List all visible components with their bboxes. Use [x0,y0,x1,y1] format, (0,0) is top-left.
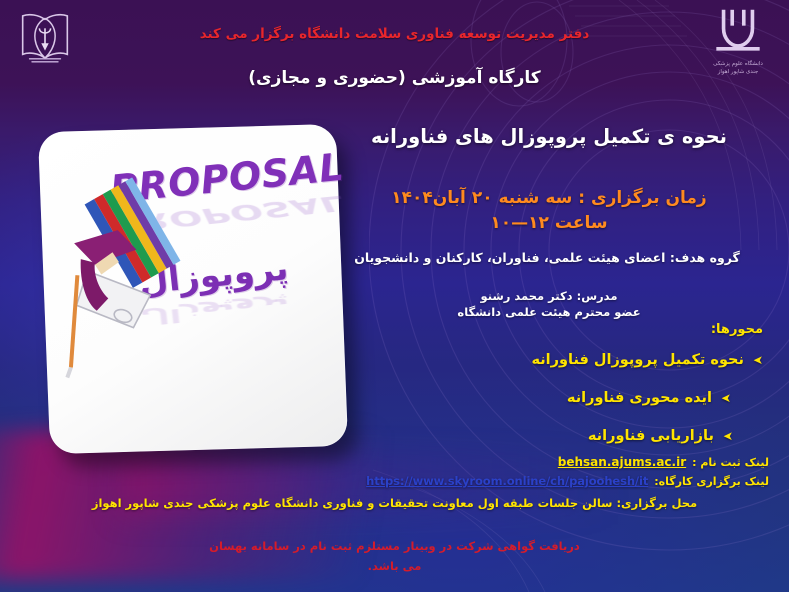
venue-line: محل برگزاری: سالن جلسات طبقه اول معاونت … [20,496,769,510]
schedule-block: زمان برگزاری : سه شنبه ۲۰ آبان۱۴۰۴ ساعت … [339,186,759,236]
registration-link-label: لینک ثبت نام : [692,456,769,469]
schedule-time-line: ساعت ۱۲—۱۰ [339,211,759,236]
lecturer-title-line: عضو محترم هیئت علمی دانشگاه [339,304,759,320]
registration-link-row: لینک ثبت نام : behsan.ajums.ac.ir [558,455,769,469]
lecturer-name-line: مدرس: دکتر محمد رشنو [339,288,759,304]
topic-label: ایده محوری فناورانه [567,390,712,406]
page-title: نحوه ی تکمیل پروپوزال های فناورانه [339,124,759,150]
topic-label: بازاریابی فناورانه [588,428,714,444]
list-item: ➤ نحوه تکمیل پروپوزال فناورانه [343,352,763,368]
schedule-date-line: زمان برگزاری : سه شنبه ۲۰ آبان۱۴۰۴ [339,186,759,211]
workshop-link-row: لینک برگزاری کارگاه: https://www.skyroom… [366,474,769,488]
topic-label: نحوه تکمیل پروپوزال فناورانه [531,352,744,368]
topics-heading: محورها: [711,322,763,337]
chevron-right-icon: ➤ [753,354,763,366]
chevron-right-icon: ➤ [723,430,733,442]
topics-list: ➤ نحوه تکمیل پروپوزال فناورانه ➤ ایده مح… [343,352,763,466]
university-logo-caption-line1: دانشگاه علوم پزشکی [701,61,775,68]
poster-header: دانشگاه علوم پزشکی جندی شاپور اهواز دفتر… [0,0,789,108]
workshop-poster: دانشگاه علوم پزشکی جندی شاپور اهواز دفتر… [0,0,789,592]
organizer-line: دفتر مدیریت توسعه فناوری سلامت دانشگاه ب… [0,26,789,42]
workshop-kind-line: کارگاه آموزشی (حضوری و مجازی) [0,68,789,88]
registration-link-url[interactable]: behsan.ajums.ac.ir [558,455,686,469]
workshop-link-url[interactable]: https://www.skyroom.online/ch/pajoohesh/… [366,474,648,488]
workshop-link-label: لینک برگزاری کارگاه: [654,475,769,488]
graduation-cap-and-books-icon [58,176,196,389]
chevron-right-icon: ➤ [721,392,731,404]
lecturer-block: مدرس: دکتر محمد رشنو عضو محترم هیئت علمی… [339,288,759,320]
certificate-note: دریافت گواهی شرکت در وبینار مستلزم ثبت ن… [0,536,789,576]
proposal-artwork-card: PROPOSAL PROPOSAL پروپوزال پروپوزال [38,124,348,454]
target-audience-line: گروه هدف: اعضای هیئت علمی، فناوران، کارک… [327,250,767,265]
list-item: ➤ ایده محوری فناورانه [343,390,763,406]
list-item: ➤ بازاریابی فناورانه [343,428,763,444]
certificate-note-line1: دریافت گواهی شرکت در وبینار مستلزم ثبت ن… [0,536,789,556]
certificate-note-line2: می باشد. [0,556,789,576]
